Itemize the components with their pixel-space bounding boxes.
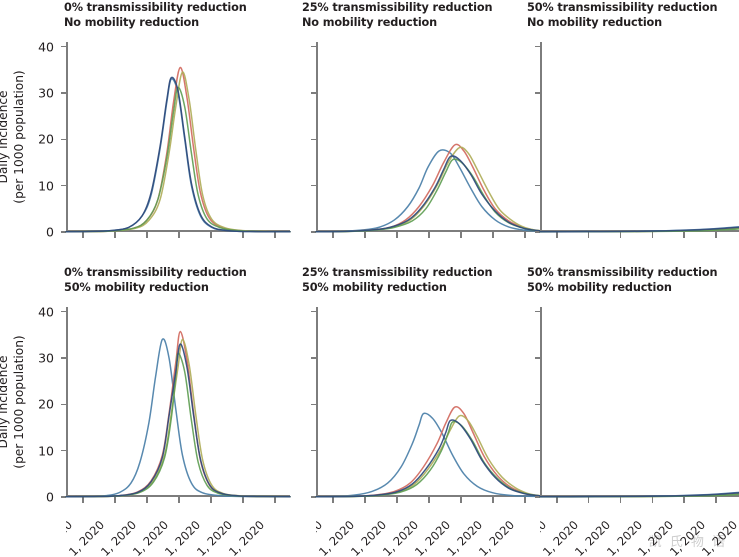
plot-area: 0102030401, 20201, 20201, 20201, 20201, … xyxy=(540,42,739,232)
x-axis-tick xyxy=(242,232,244,238)
plot-area: 0102030401, 20201, 20201, 20201, 20201, … xyxy=(66,307,290,497)
panel-0-0: 0% transmissibility reduction No mobilit… xyxy=(0,0,292,265)
x-axis-tick-label: 1, 2020 xyxy=(380,518,421,557)
series-line-salmon_red xyxy=(316,407,540,497)
x-axis-tick xyxy=(82,232,84,238)
x-axis-tick-label: 1, 2020 xyxy=(316,518,325,557)
series-line-green xyxy=(66,87,290,231)
x-axis-tick xyxy=(146,232,148,238)
y-axis-tick-label: 0 xyxy=(46,489,54,504)
x-axis-tick xyxy=(82,497,84,503)
x-axis-tick xyxy=(652,232,654,238)
x-axis-tick-label: 1, 2020 xyxy=(130,518,171,557)
panel-title-line2: 50% mobility reduction xyxy=(64,280,247,295)
curve-layer xyxy=(540,42,739,232)
x-axis-tick xyxy=(178,497,180,503)
panel-row-bottom: 0% transmissibility reduction 50% mobili… xyxy=(0,265,739,530)
x-axis-tick xyxy=(178,232,180,238)
panel-title: 25% transmissibility reduction 50% mobil… xyxy=(302,265,492,295)
plot-area: 0102030401, 20201, 20201, 20201, 20201, … xyxy=(316,307,540,497)
x-axis-tick xyxy=(114,497,116,503)
x-axis-tick xyxy=(364,232,366,238)
plot-area: 0102030401, 20201, 20201, 20201, 20201, … xyxy=(540,307,739,497)
x-axis-tick xyxy=(242,497,244,503)
x-axis-tick-labels: 1, 20201, 20201, 20201, 20201, 20201, 20… xyxy=(540,497,739,557)
x-axis-tick xyxy=(588,497,590,503)
x-axis-tick-label: 1, 2020 xyxy=(572,518,613,557)
series-line-dark_blue xyxy=(66,77,290,231)
y-axis-tick-label: 30 xyxy=(38,350,54,365)
x-axis-tick-label: 1, 2020 xyxy=(476,518,517,557)
panel-1-0: 0% transmissibility reduction 50% mobili… xyxy=(0,265,292,530)
series-line-steel_blue xyxy=(66,79,290,232)
panel-title: 0% transmissibility reduction 50% mobili… xyxy=(64,265,247,295)
y-axis-tick-label: 40 xyxy=(38,39,54,54)
x-axis-tick-labels: 1, 20201, 20201, 20201, 20201, 20201, 20… xyxy=(316,497,540,557)
x-axis-tick xyxy=(364,497,366,503)
watermark: 凯 氏 物 语 xyxy=(649,531,727,550)
x-axis-tick-label: 1, 2020 xyxy=(412,518,453,557)
x-axis-tick xyxy=(556,232,558,238)
curve-layer xyxy=(540,307,739,497)
panel-title-line2: 50% mobility reduction xyxy=(302,280,492,295)
y-axis-tick-label: 30 xyxy=(38,85,54,100)
plot-area: 0102030401, 20201, 20201, 20201, 20201, … xyxy=(316,42,540,232)
panel-title-line1: 50% transmissibility reduction xyxy=(527,265,717,280)
y-axis-title-line1: Daily incidence xyxy=(0,42,12,232)
x-axis-tick xyxy=(492,232,494,238)
curve-layer xyxy=(66,42,290,232)
x-axis-tick-label: 1, 2020 xyxy=(667,518,708,557)
series-line-olive xyxy=(66,339,290,496)
x-axis-tick-label: 1, 2020 xyxy=(699,518,739,557)
x-axis-tick-label: 1, 2020 xyxy=(444,518,485,557)
panel-0-2: 50% transmissibility reduction No mobili… xyxy=(516,0,739,265)
x-axis-tick xyxy=(715,232,717,238)
y-axis-tick-label: 10 xyxy=(38,443,54,458)
y-axis-tick-label: 20 xyxy=(38,132,54,147)
x-axis-tick xyxy=(652,497,654,503)
y-axis-title: Daily incidence (per 1000 population) xyxy=(0,307,30,497)
x-axis-tick-label: 1, 2020 xyxy=(66,518,107,557)
epidemic-curves-figure: 0% transmissibility reduction No mobilit… xyxy=(0,0,739,554)
x-axis-tick xyxy=(620,497,622,503)
x-axis-tick xyxy=(492,497,494,503)
curve-layer xyxy=(316,307,540,497)
x-axis-tick xyxy=(588,232,590,238)
y-axis-tick-label: 10 xyxy=(38,178,54,193)
y-axis-tick-label: 20 xyxy=(38,397,54,412)
x-axis-tick-label: 1, 2020 xyxy=(98,518,139,557)
panel-title-line1: 25% transmissibility reduction xyxy=(302,265,492,280)
panel-title-line2: No mobility reduction xyxy=(64,15,247,30)
panel-title: 50% transmissibility reduction 50% mobil… xyxy=(527,265,717,295)
panel-title-line1: 25% transmissibility reduction xyxy=(302,0,492,15)
x-axis-tick xyxy=(460,497,462,503)
panel-title-line1: 0% transmissibility reduction xyxy=(64,265,247,280)
y-axis-title-line2: (per 1000 population) xyxy=(12,307,28,497)
panel-0-1: 25% transmissibility reduction No mobili… xyxy=(292,0,516,265)
x-axis-tick-label: 1, 2020 xyxy=(316,518,357,557)
x-axis-tick xyxy=(683,232,685,238)
x-axis-tick xyxy=(146,497,148,503)
x-axis-tick-labels: 1, 20201, 20201, 20201, 20201, 20201, 20… xyxy=(66,497,290,557)
panel-title-line2: 50% mobility reduction xyxy=(527,280,717,295)
x-axis-tick xyxy=(428,232,430,238)
y-axis-title-line2: (per 1000 population) xyxy=(12,42,28,232)
panel-title-line2: No mobility reduction xyxy=(302,15,492,30)
curve-layer xyxy=(316,42,540,232)
series-line-salmon_red xyxy=(316,144,540,231)
x-axis-tick-label: 1, 2020 xyxy=(66,518,75,557)
x-axis-tick xyxy=(274,497,276,503)
x-axis-tick-label: 1, 2020 xyxy=(540,518,581,557)
y-axis-title-line1: Daily incidence xyxy=(0,307,12,497)
panel-title: 50% transmissibility reduction No mobili… xyxy=(527,0,717,30)
x-axis-tick-label: 1, 2020 xyxy=(603,518,644,557)
x-axis-tick-label: 1, 2020 xyxy=(226,518,267,557)
x-axis-tick xyxy=(332,497,334,503)
x-axis-tick xyxy=(683,497,685,503)
y-axis-tick-label: 40 xyxy=(38,304,54,319)
panel-title: 0% transmissibility reduction No mobilit… xyxy=(64,0,247,30)
curve-layer xyxy=(66,307,290,497)
x-axis-tick-label: 1, 2020 xyxy=(194,518,235,557)
x-axis-tick xyxy=(556,497,558,503)
panel-1-1: 25% transmissibility reduction 50% mobil… xyxy=(292,265,516,530)
x-axis-tick xyxy=(274,232,276,238)
x-axis-tick xyxy=(332,232,334,238)
x-axis-tick xyxy=(396,497,398,503)
plot-area: 0102030401, 20201, 20201, 20201, 20201, … xyxy=(66,42,290,232)
x-axis-tick xyxy=(460,232,462,238)
y-axis-title: Daily incidence (per 1000 population) xyxy=(0,42,30,232)
panel-row-top: 0% transmissibility reduction No mobilit… xyxy=(0,0,739,265)
y-axis-tick-label: 0 xyxy=(46,224,54,239)
series-line-olive xyxy=(66,72,290,232)
panel-title-line1: 50% transmissibility reduction xyxy=(527,0,717,15)
panel-1-2: 50% transmissibility reduction 50% mobil… xyxy=(516,265,739,530)
x-axis-tick xyxy=(210,497,212,503)
x-axis-tick xyxy=(620,232,622,238)
x-axis-tick-label: 1, 2020 xyxy=(635,518,676,557)
x-axis-tick xyxy=(114,232,116,238)
x-axis-tick xyxy=(428,497,430,503)
x-axis-tick-label: 1, 2020 xyxy=(162,518,203,557)
panel-title-line1: 0% transmissibility reduction xyxy=(64,0,247,15)
x-axis-tick-label: 1, 2020 xyxy=(348,518,389,557)
x-axis-tick-label: 1, 2020 xyxy=(540,518,549,557)
x-axis-tick xyxy=(396,232,398,238)
x-axis-tick xyxy=(210,232,212,238)
x-axis-tick xyxy=(715,497,717,503)
panel-title: 25% transmissibility reduction No mobili… xyxy=(302,0,492,30)
panel-title-line2: No mobility reduction xyxy=(527,15,717,30)
